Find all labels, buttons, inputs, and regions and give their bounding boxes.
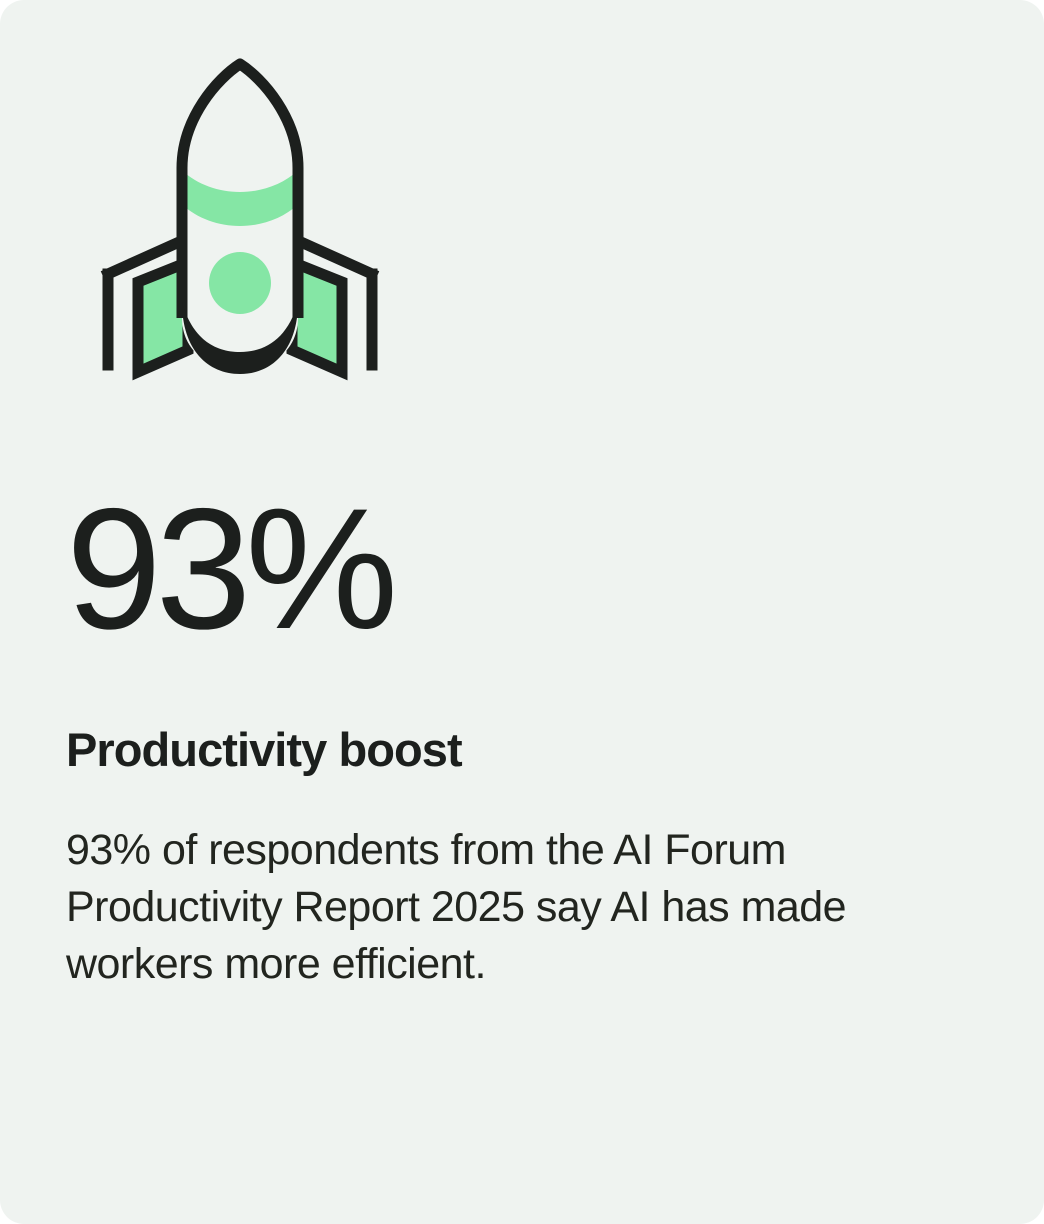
stat-description: 93% of respondents from the AI Forum Pro… xyxy=(66,822,966,994)
stat-card: 93% Productivity boost 93% of respondent… xyxy=(0,0,1044,1224)
stat-label: Productivity boost xyxy=(66,723,984,777)
card-body: 93% Productivity boost 93% of respondent… xyxy=(66,490,984,994)
rocket-icon xyxy=(70,50,410,390)
stat-value: 93% xyxy=(66,490,984,650)
